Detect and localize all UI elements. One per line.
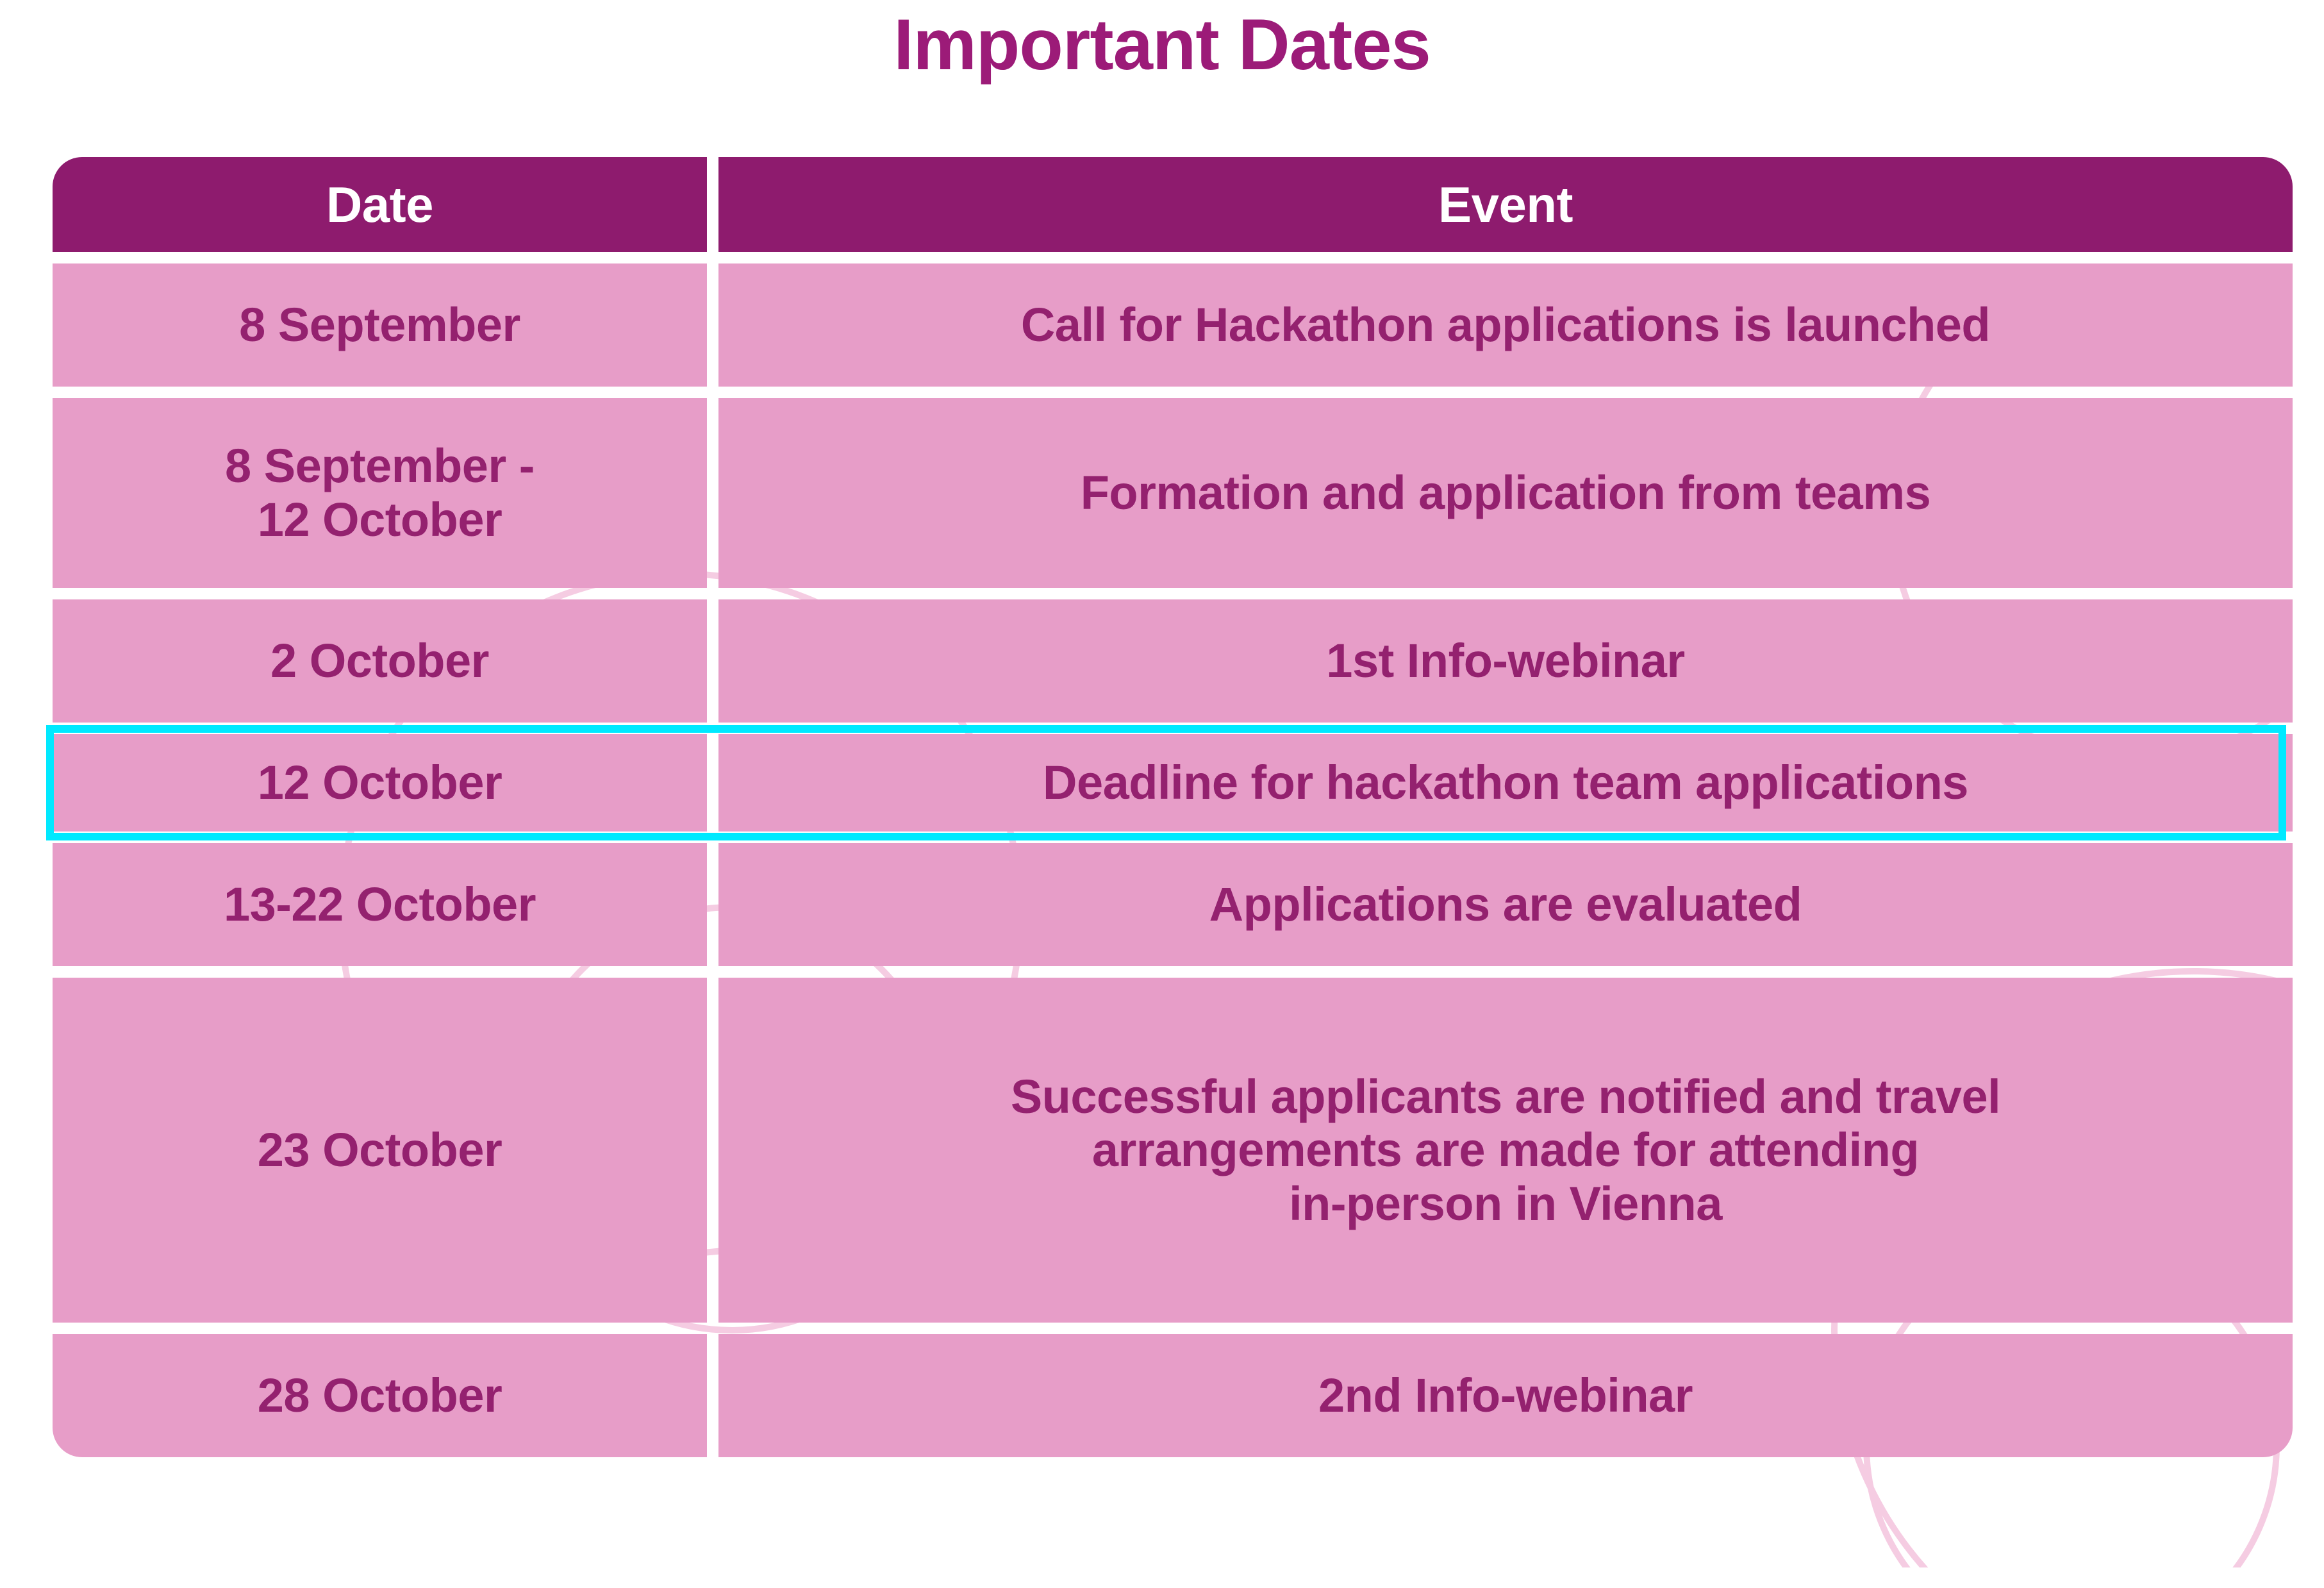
cell-event: Call for Hackathon applications is launc… [718,263,2293,387]
cell-event: Formation and application from teams [718,398,2293,588]
column-header-event: Event [718,157,2293,252]
table-header-row: Date Event [53,157,2293,252]
date-line: 23 October [258,1123,502,1177]
event-line: Deadline for hackathon team applications [1043,756,1968,810]
event-line: Successful applicants are notified and t… [1011,1070,2000,1124]
cell-date: 12 October [53,734,707,832]
event-line: Formation and application from teams [1081,466,1931,520]
table-row[interactable]: 8 September - 12 October Formation and a… [53,398,2293,588]
date-line: 13-22 October [224,878,536,932]
date-line: 8 September [239,298,520,352]
cell-event: 1st Info-webinar [718,599,2293,723]
table-row[interactable]: 28 October 2nd Info-webinar [53,1334,2293,1457]
event-line: Call for Hackathon applications is launc… [1021,298,1990,352]
date-line: 8 September - [225,439,535,493]
cell-event: Successful applicants are notified and t… [718,978,2293,1323]
table-row-highlighted[interactable]: 12 October Deadline for hackathon team a… [53,734,2293,832]
date-line: 28 October [258,1369,502,1423]
cell-date: 28 October [53,1334,707,1457]
event-line: Applications are evaluated [1209,878,1802,932]
slide-root: Important Dates Date Event 8 September [0,0,2324,1588]
cell-event: Deadline for hackathon team applications [718,734,2293,832]
cell-date: 2 October [53,599,707,723]
cell-event: Applications are evaluated [718,843,2293,966]
date-line: 12 October [258,756,502,810]
cell-date: 13-22 October [53,843,707,966]
event-line: arrangements are made for attending [1011,1123,2000,1177]
date-line: 2 October [270,634,489,688]
cell-event: 2nd Info-webinar [718,1334,2293,1457]
column-header-date: Date [53,157,707,252]
page-title: Important Dates [0,9,2324,81]
table-row[interactable]: 13-22 October Applications are evaluated [53,843,2293,966]
table-row[interactable]: 2 October 1st Info-webinar [53,599,2293,723]
cell-date: 8 September - 12 October [53,398,707,588]
date-line: 12 October [225,493,535,547]
event-line: 2nd Info-webinar [1318,1369,1693,1423]
table-row[interactable]: 23 October Successful applicants are not… [53,978,2293,1323]
table-row[interactable]: 8 September Call for Hackathon applicati… [53,263,2293,387]
cell-date: 8 September [53,263,707,387]
event-line: in-person in Vienna [1011,1177,2000,1231]
cell-date: 23 October [53,978,707,1323]
important-dates-table: Date Event 8 September Call for Hackatho… [53,157,2293,1567]
event-line: 1st Info-webinar [1326,634,1684,688]
